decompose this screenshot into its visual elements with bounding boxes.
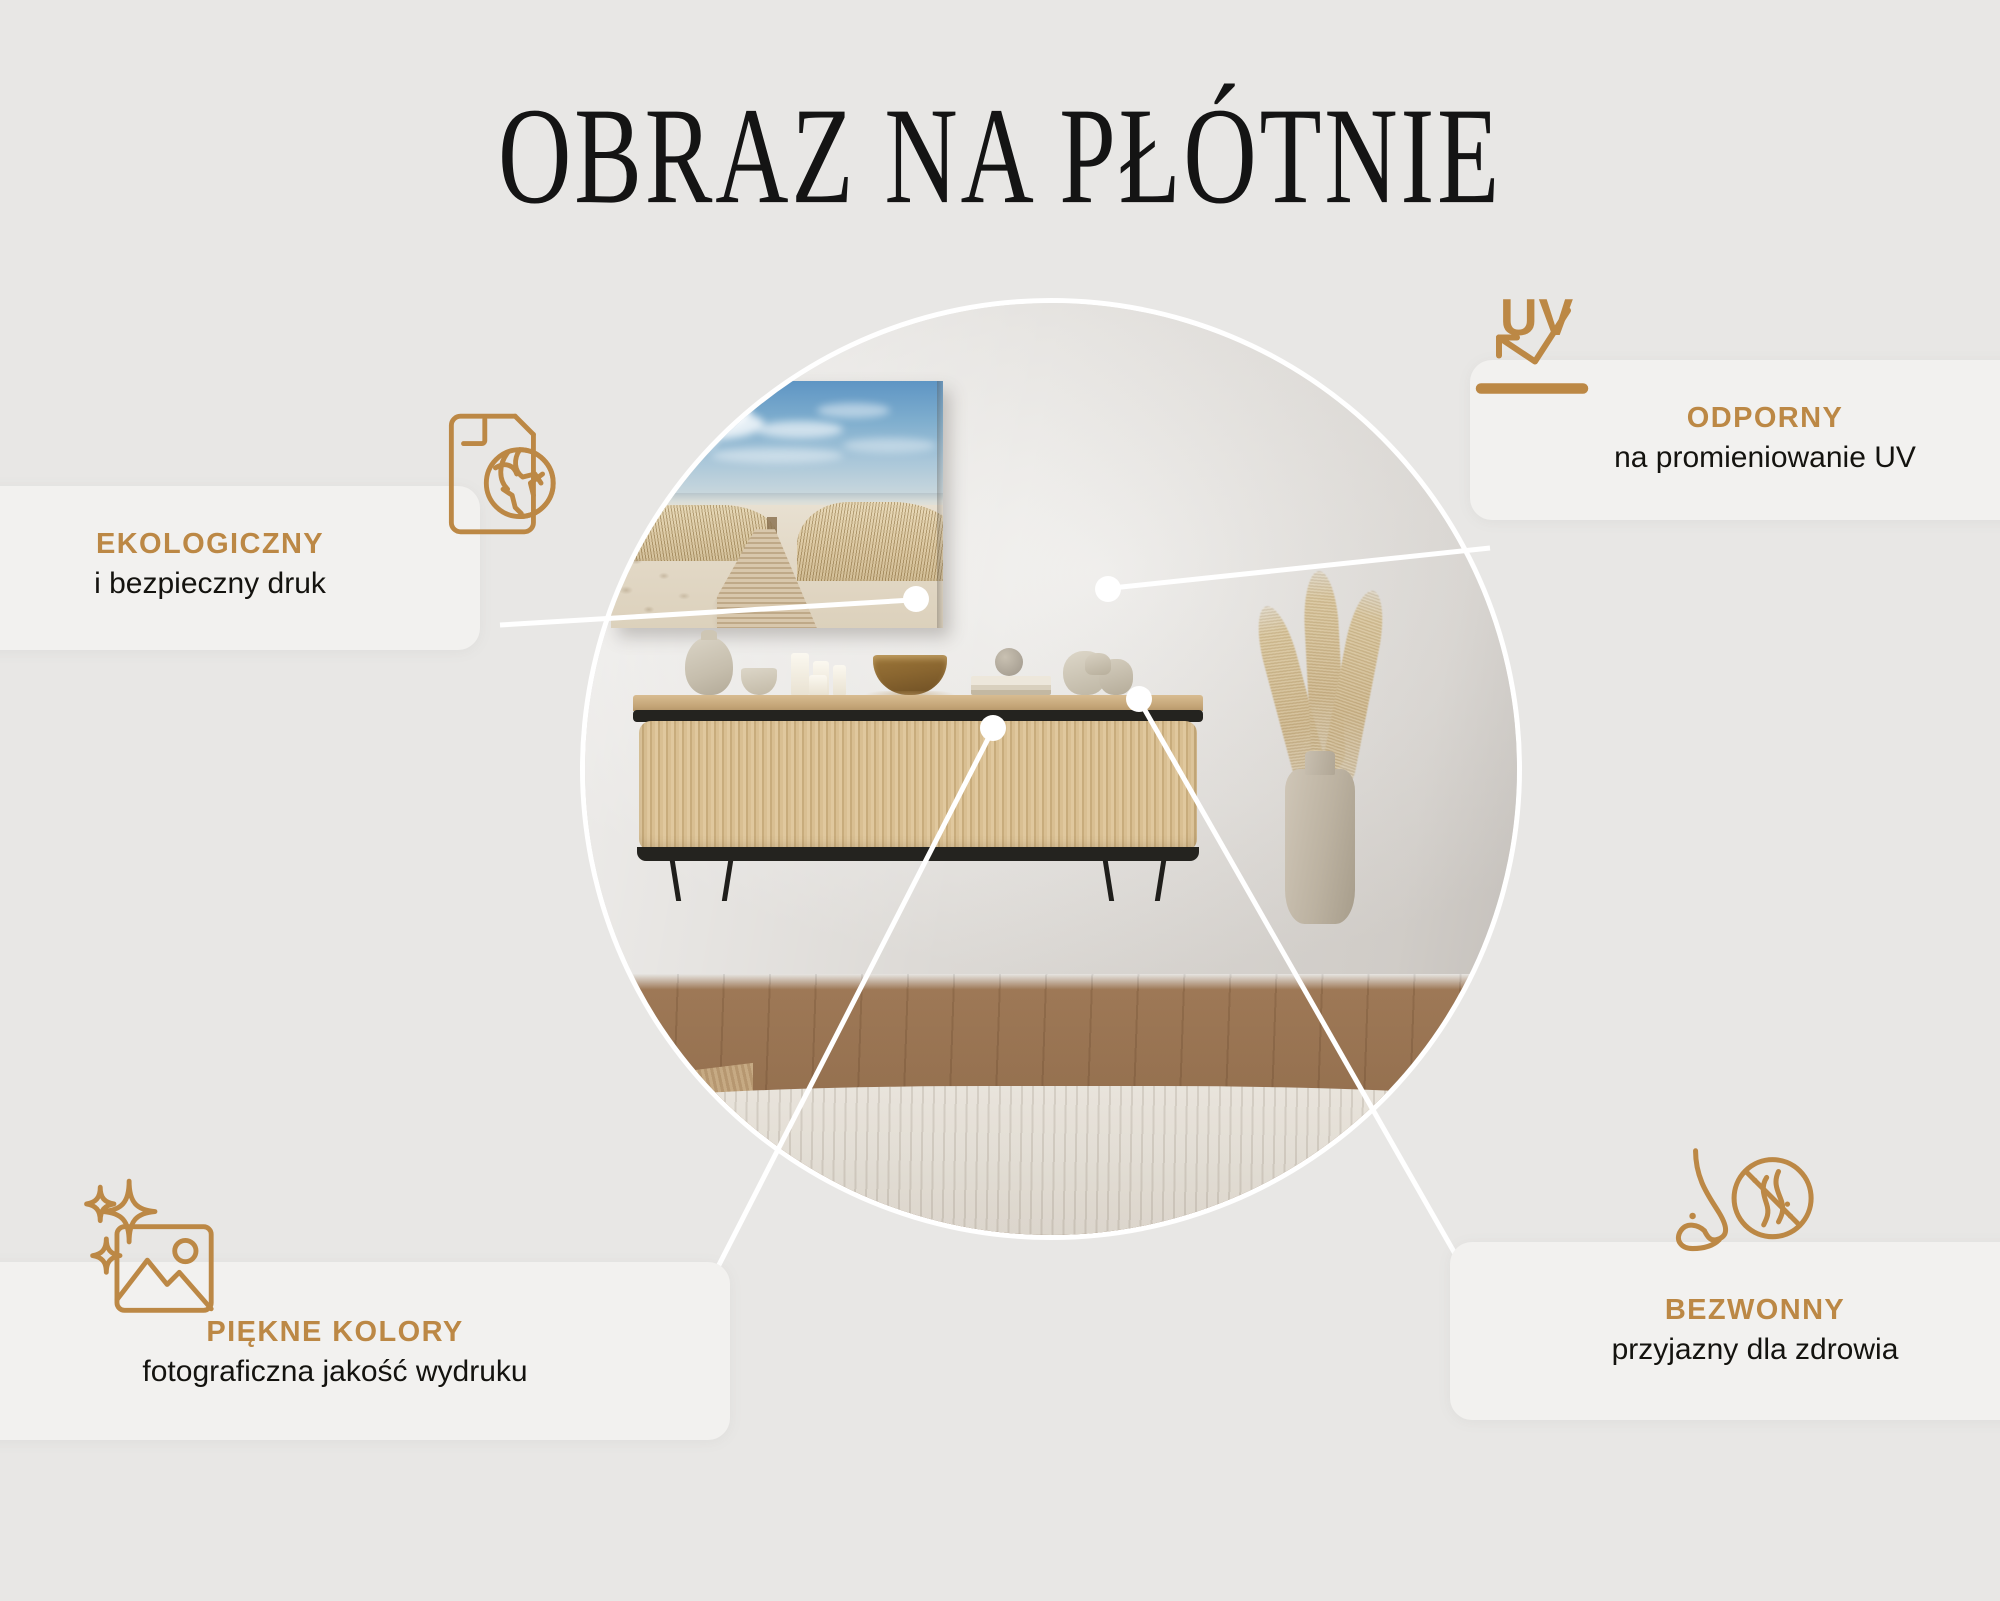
document-globe-leaf-icon — [424, 398, 576, 555]
sideboard — [633, 695, 1203, 881]
infographic-stage: OBRAZ NA PŁÓTNIE — [0, 0, 2000, 1601]
cloud — [843, 438, 936, 453]
feature-title-eco: EKOLOGICZNY — [0, 528, 480, 561]
area-rug — [585, 1086, 1517, 1235]
ceramic-jug — [1085, 653, 1111, 675]
feature-subtitle-eco: i bezpieczny druk — [0, 567, 480, 601]
feature-subtitle-odorless: przyjazny dla zdrowia — [1450, 1333, 2000, 1367]
canvas-edge — [937, 381, 943, 628]
ceramic-vase-large — [685, 637, 733, 695]
sideboard-base — [637, 847, 1199, 861]
cloud — [817, 403, 890, 418]
canvas-artwork — [611, 381, 943, 628]
sand-footprints — [611, 544, 737, 628]
interior-scene — [585, 303, 1517, 1235]
candle — [791, 653, 809, 695]
feature-subtitle-colors: fotograficzna jakość wydruku — [0, 1355, 730, 1389]
photo-sparkle-icon — [78, 1172, 238, 1329]
cloud — [757, 421, 843, 438]
sideboard-top — [633, 695, 1203, 711]
candle — [809, 675, 827, 695]
candle — [833, 665, 846, 695]
floor-vase — [1285, 769, 1355, 924]
grass-texture — [797, 502, 943, 581]
feature-text-odorless: BEZWONNY przyjazny dla zdrowia — [1450, 1294, 2000, 1367]
cloud — [711, 448, 844, 463]
feature-title-odorless: BEZWONNY — [1450, 1294, 2000, 1327]
rug-texture — [585, 1086, 1517, 1235]
dune-grass-right — [797, 502, 943, 581]
page-title: OBRAZ NA PŁÓTNIE — [60, 78, 1940, 237]
feature-text-eco: EKOLOGICZNY i bezpieczny druk — [0, 528, 480, 601]
uv-ray-reflect-icon — [1472, 286, 1622, 421]
cloud — [618, 430, 718, 452]
product-scene-circle — [585, 303, 1517, 1235]
feature-card-eco: EKOLOGICZNY i bezpieczny druk — [0, 486, 480, 650]
nose-no-smell-icon — [1660, 1138, 1820, 1293]
stone-sphere — [995, 648, 1023, 676]
book-stack — [971, 676, 1051, 695]
sideboard-fluted-front — [639, 721, 1197, 851]
feature-subtitle-uv: na promieniowanie UV — [1470, 441, 2000, 475]
